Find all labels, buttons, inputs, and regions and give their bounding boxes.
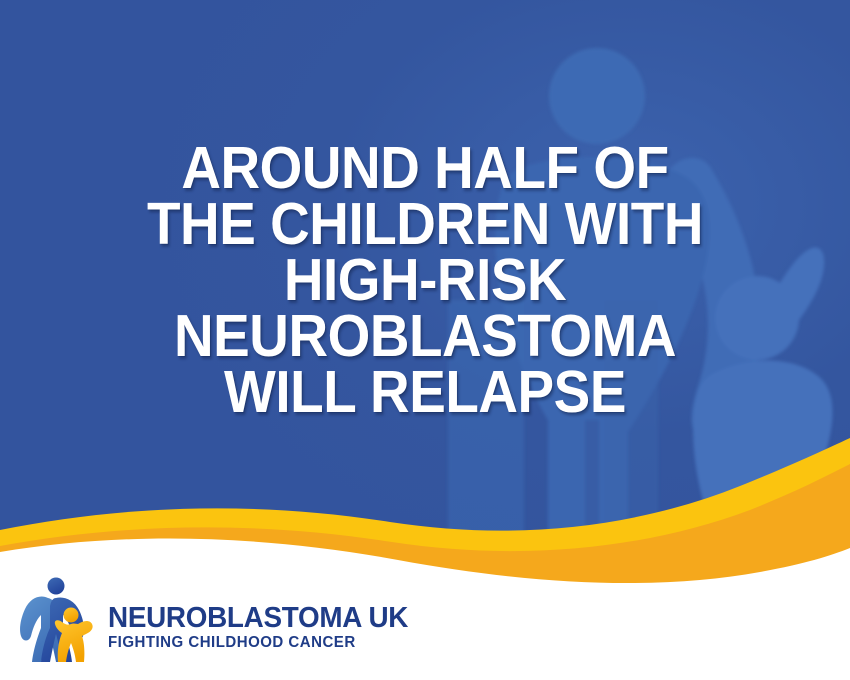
- awareness-poster: AROUND HALF OF THE CHILDREN WITH HIGH-RI…: [0, 0, 850, 680]
- headline: AROUND HALF OF THE CHILDREN WITH HIGH-RI…: [0, 140, 850, 420]
- headline-line-2: THE CHILDREN WITH: [30, 196, 821, 252]
- headline-line-5: WILL RELAPSE: [30, 364, 821, 420]
- headline-line-1: AROUND HALF OF: [30, 140, 821, 196]
- headline-line-3: HIGH-RISK: [30, 252, 821, 308]
- watermark-adult-head: [549, 48, 645, 144]
- family-figures-logo-icon: [18, 576, 100, 664]
- brand-wordmark: NEUROBLASTOMA UK FIGHTING CHILDHOOD CANC…: [108, 589, 421, 652]
- headline-line-4: NEUROBLASTOMA: [30, 308, 821, 364]
- brand-name: NEUROBLASTOMA UK: [108, 603, 408, 633]
- brand-logo-lockup[interactable]: NEUROBLASTOMA UK FIGHTING CHILDHOOD CANC…: [18, 572, 438, 668]
- brand-tagline: FIGHTING CHILDHOOD CANCER: [108, 634, 411, 652]
